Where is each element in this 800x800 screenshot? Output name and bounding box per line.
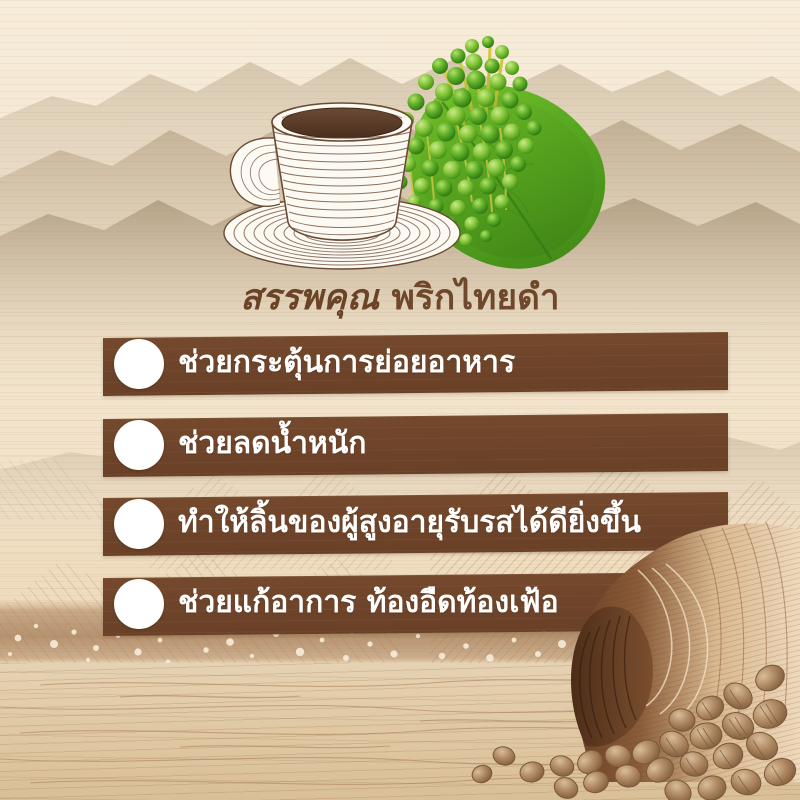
check-icon — [114, 339, 164, 389]
check-icon — [114, 420, 164, 470]
benefit-text: ช่วยกระตุ้นการย่อยอาหาร — [178, 346, 515, 380]
benefit-bar[interactable]: ช่วยกระตุ้นการย่อยอาหาร — [103, 332, 728, 396]
peppercorn-sack-illustration — [470, 500, 800, 800]
benefit-bar[interactable]: ช่วยลดน้ำหนัก — [103, 413, 728, 477]
poster-canvas: สรรพคุณ พริกไทยดำ ช่วยกระตุ้นการย่อยอาหา… — [0, 0, 800, 800]
check-icon — [114, 579, 164, 629]
benefit-text: ช่วยลดน้ำหนัก — [178, 427, 366, 461]
check-icon — [114, 499, 164, 549]
